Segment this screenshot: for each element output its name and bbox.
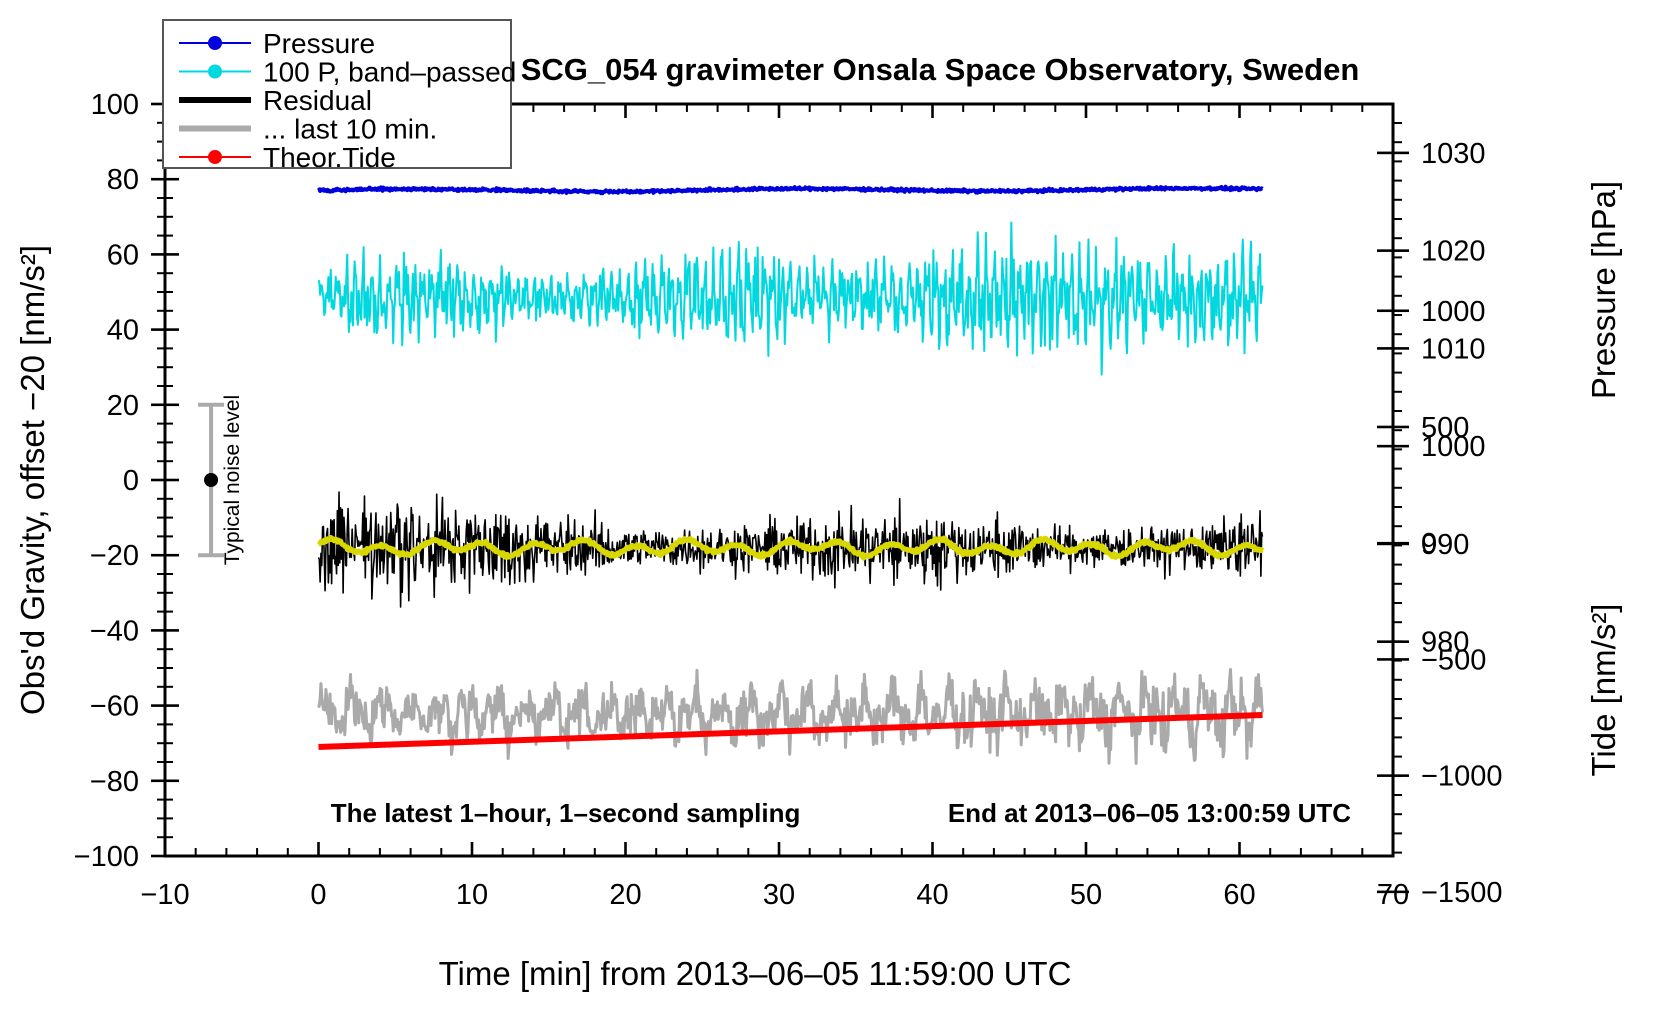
y-tick-label-pressure: 1020 <box>1421 236 1486 268</box>
y-axis-label-pressure: Pressure [hPa] <box>1585 181 1622 399</box>
y-tick-label-tide: −500 <box>1421 644 1486 676</box>
y-tick-label-left: 0 <box>123 465 139 497</box>
y-tick-label-tide: 1000 <box>1421 296 1486 328</box>
x-tick-label: 50 <box>1070 879 1102 911</box>
y-tick-label-left: 80 <box>107 164 139 196</box>
x-tick-label: −10 <box>140 879 189 911</box>
legend-label: Theor.Tide <box>263 142 396 173</box>
legend-marker <box>208 150 222 164</box>
y-tick-label-tide: 500 <box>1421 412 1469 444</box>
sampling-note-annotation: The latest 1–hour, 1–second sampling <box>331 798 801 828</box>
y-tick-label-tide: −1500 <box>1421 877 1502 909</box>
legend-marker <box>208 65 222 79</box>
gravimeter-chart: −10010203040506070100806040200−20−40−60−… <box>0 0 1660 1020</box>
y-axis-label-left: Obs'd Gravity, offset −20 [nm/s²] <box>14 245 51 715</box>
y-tick-label-left: −40 <box>90 615 139 647</box>
noise-level-label: Typical noise level <box>221 395 244 565</box>
y-tick-label-left: 20 <box>107 390 139 422</box>
x-axis-label: Time [min] from 2013–06–05 11:59:00 UTC <box>439 955 1072 992</box>
x-tick-label: 40 <box>916 879 948 911</box>
legend-label: 100 P, band–passed <box>263 57 516 88</box>
y-tick-label-tide: 0 <box>1421 528 1437 560</box>
y-tick-label-left: −60 <box>90 691 139 723</box>
end-time-annotation: End at 2013–06–05 13:00:59 UTC <box>948 798 1351 828</box>
noise-level-marker <box>204 473 218 487</box>
y-tick-label-pressure: 1030 <box>1421 138 1486 170</box>
y-tick-label-tide: −1000 <box>1421 761 1502 793</box>
x-tick-label: 30 <box>763 879 795 911</box>
x-tick-label: 60 <box>1223 879 1255 911</box>
y-tick-label-left: −100 <box>74 841 139 873</box>
legend-marker <box>208 36 222 50</box>
page-title: SCG_054 gravimeter Onsala Space Observat… <box>521 52 1360 87</box>
x-tick-label: 10 <box>456 879 488 911</box>
x-tick-label: 0 <box>310 879 326 911</box>
y-axis-label-tide: Tide [nm/s²] <box>1585 604 1622 777</box>
y-tick-label-left: −20 <box>90 540 139 572</box>
chart-page: −10010203040506070100806040200−20−40−60−… <box>0 0 1660 1020</box>
y-tick-label-pressure: 1010 <box>1421 333 1486 365</box>
legend-label: Pressure <box>263 28 375 59</box>
legend-label: ... last 10 min. <box>263 114 437 145</box>
x-tick-label: 70 <box>1377 879 1409 911</box>
y-tick-label-left: 100 <box>91 89 139 121</box>
legend-label: Residual <box>263 85 372 116</box>
y-tick-label-left: 60 <box>107 239 139 271</box>
y-tick-label-left: 40 <box>107 315 139 347</box>
legend[interactable]: Pressure100 P, band–passedResidual... la… <box>163 20 516 173</box>
x-tick-label: 20 <box>609 879 641 911</box>
y-tick-label-left: −80 <box>90 766 139 798</box>
